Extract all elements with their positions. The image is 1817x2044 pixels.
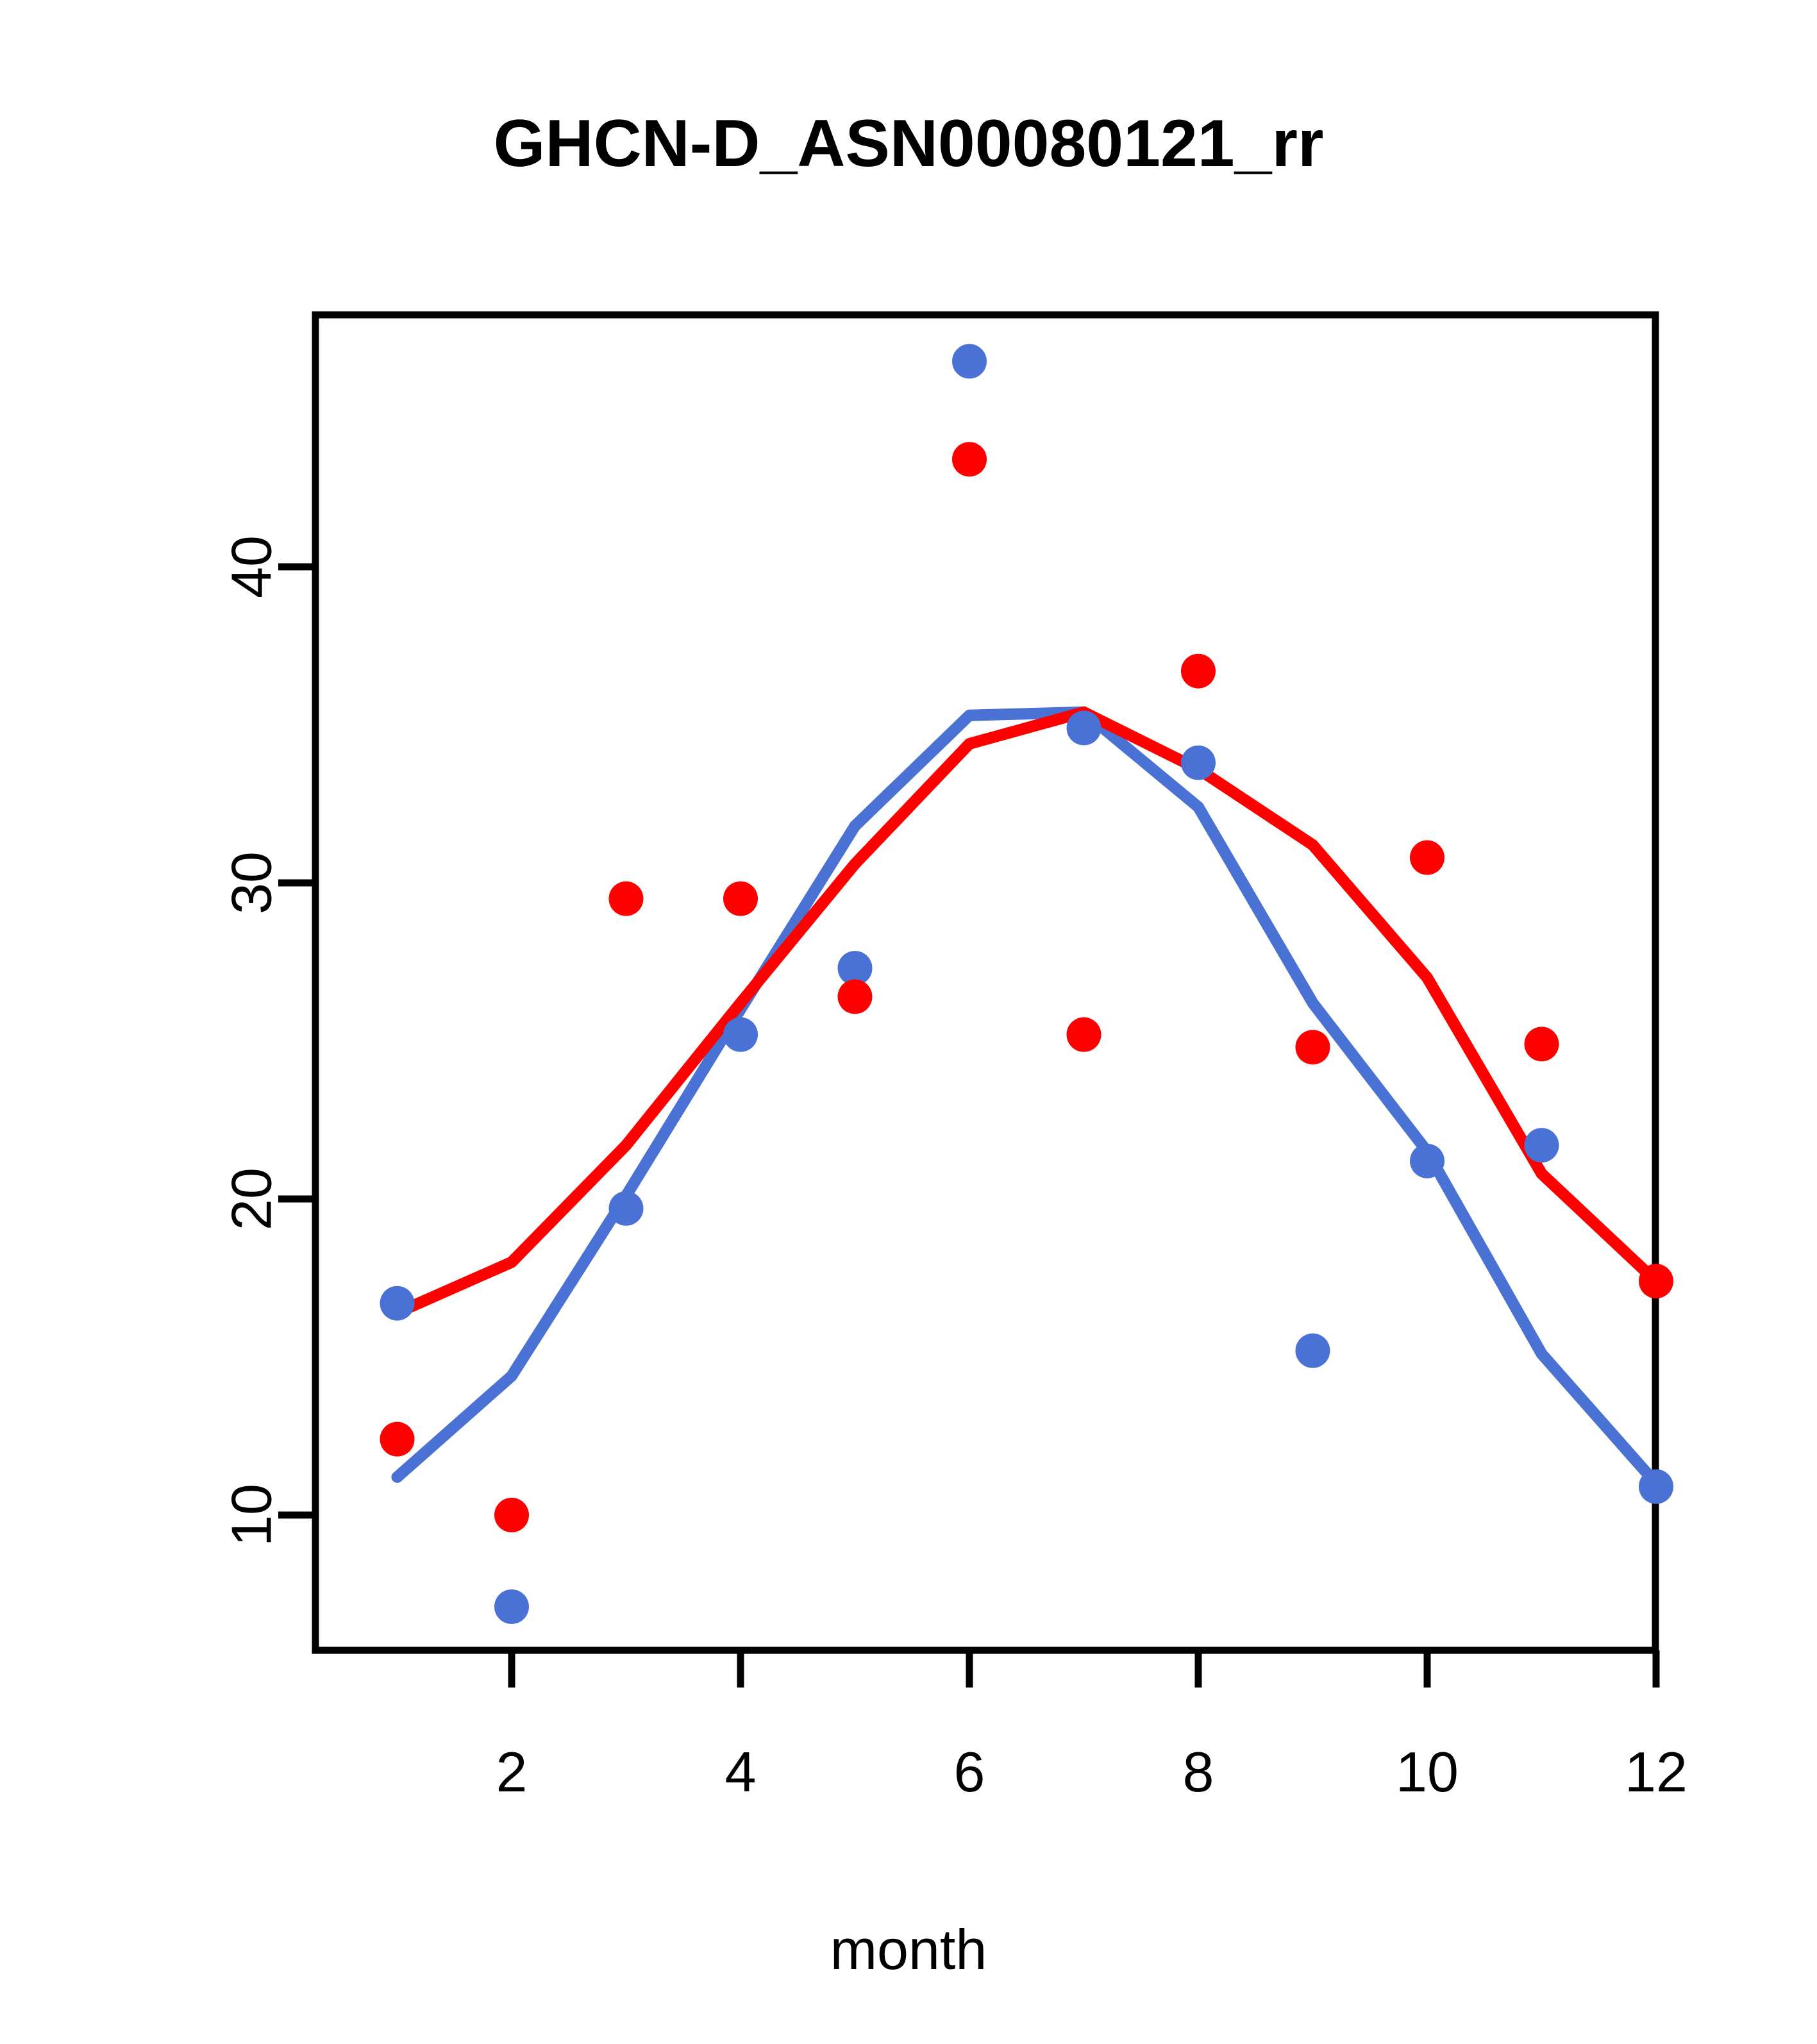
data-point-blue-points (494, 1589, 529, 1624)
x-tick-label: 8 (1183, 1740, 1214, 1804)
y-tick-label: 20 (220, 1168, 283, 1230)
x-tick-label: 4 (725, 1740, 757, 1804)
data-point-red-points (1525, 1026, 1559, 1061)
data-point-blue-points (1410, 1144, 1444, 1178)
x-tick-label: 10 (1396, 1740, 1459, 1804)
data-point-red-points (380, 1422, 415, 1457)
data-point-red-points (723, 882, 758, 916)
data-point-red-points (952, 442, 987, 476)
y-tick-label: 10 (220, 1484, 283, 1546)
data-point-blue-points (723, 1018, 758, 1052)
data-point-red-points (1296, 1030, 1330, 1064)
data-point-blue-points (1067, 710, 1101, 745)
plot-frame (315, 315, 1655, 1650)
data-point-red-points (838, 979, 873, 1014)
data-point-red-points (1639, 1264, 1673, 1298)
y-axis-ticks (278, 567, 315, 1515)
series-line-blue-line (398, 712, 1657, 1484)
x-tick-label: 12 (1625, 1740, 1687, 1804)
plot-box (315, 315, 1655, 1650)
x-tick-label: 2 (496, 1740, 528, 1804)
data-point-red-points (494, 1498, 529, 1532)
data-point-blue-points (1296, 1334, 1330, 1368)
data-point-blue-points (1525, 1128, 1559, 1162)
x-tick-label: 6 (954, 1740, 985, 1804)
chart-canvas: 10203040 24681012 (0, 0, 1817, 2044)
plot-figure: GHCN-D_ASN00080121_rr 10203040 24681012 … (0, 0, 1817, 2044)
data-point-blue-points (1639, 1470, 1673, 1504)
series-layer (380, 344, 1674, 1624)
y-tick-label: 40 (220, 535, 283, 598)
y-tick-label: 30 (220, 851, 283, 914)
data-point-blue-points (380, 1286, 415, 1321)
data-point-blue-points (1181, 746, 1216, 780)
data-point-blue-points (609, 1191, 644, 1226)
y-axis-tick-labels: 10203040 (220, 535, 283, 1546)
data-point-red-points (1181, 654, 1216, 689)
x-axis-label: month (0, 1917, 1817, 1982)
data-point-red-points (1067, 1018, 1101, 1052)
data-point-blue-points (952, 344, 987, 379)
data-point-red-points (1410, 841, 1444, 875)
x-axis-tick-labels: 24681012 (496, 1740, 1687, 1804)
x-axis-ticks (512, 1650, 1656, 1688)
data-point-red-points (609, 882, 644, 916)
